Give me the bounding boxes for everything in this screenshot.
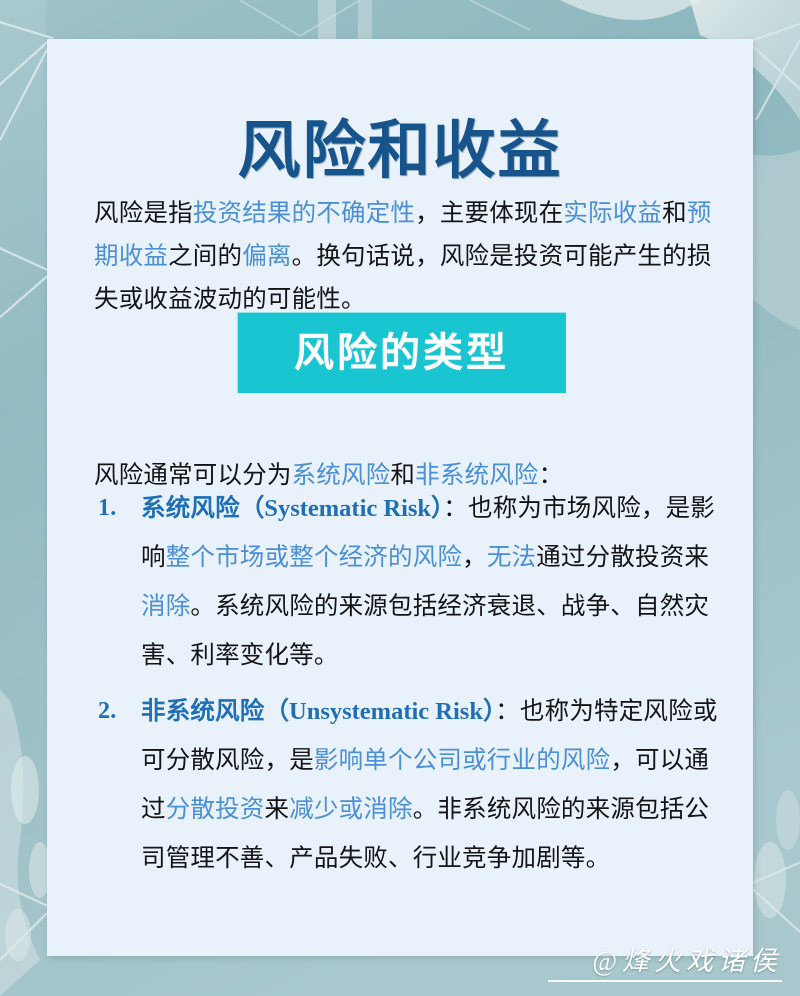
list-item-term-english: （Systematic Risk）	[240, 495, 443, 522]
body-text: 之间的	[168, 243, 242, 270]
list-item-term: 非系统风险	[141, 698, 265, 725]
highlighted-text: 无法	[487, 544, 536, 571]
list-item-term-english: （Unsystematic Risk）	[265, 698, 496, 725]
list-item-term: 系统风险	[141, 495, 240, 522]
highlighted-text: 减少或消除	[289, 796, 413, 823]
highlighted-text: 偏离	[242, 243, 291, 270]
highlighted-text: 投资结果的不确定性	[193, 200, 415, 227]
highlighted-text: 实际收益	[563, 200, 662, 227]
list-item-colon: ：	[495, 698, 520, 725]
body-text: 。系统风险的来源包括经济衰退、战争、自然灾害、利率变化等。	[141, 593, 709, 669]
watermark: @烽火戏诸侯	[548, 947, 782, 982]
body-text: 和	[662, 200, 687, 227]
page-title: 风险和收益	[47, 118, 753, 184]
list-item-colon: ：	[443, 495, 468, 522]
body-text: 通过分散投资来	[536, 544, 709, 571]
highlighted-text: 消除	[141, 593, 190, 620]
highlighted-text: 影响单个公司或行业的风险	[314, 747, 610, 774]
list-item: 2.非系统风险（Unsystematic Risk）：也称为特定风险或可分散风险…	[94, 687, 719, 883]
intro-paragraph: 风险是指投资结果的不确定性，主要体现在实际收益和预期收益之间的偏离。换句话说，风…	[94, 192, 714, 321]
content-card: 风险和收益 风险是指投资结果的不确定性，主要体现在实际收益和预期收益之间的偏离。…	[47, 39, 753, 956]
highlighted-text: 分散投资	[166, 796, 265, 823]
list-item: 1.系统风险（Systematic Risk）：也称为市场风险，是影响整个市场或…	[94, 484, 719, 680]
watermark-handle: @烽火戏诸侯	[548, 947, 782, 977]
body-text: 风险是指	[94, 200, 193, 227]
section-heading-label: 风险的类型	[294, 333, 509, 373]
body-text: 来	[265, 796, 290, 823]
watermark-underline	[548, 980, 782, 982]
section-heading-banner: 风险的类型	[237, 312, 566, 393]
risk-type-list: 1.系统风险（Systematic Risk）：也称为市场风险，是影响整个市场或…	[94, 484, 719, 890]
body-text: ，	[462, 544, 487, 571]
body-text: ，主要体现在	[415, 200, 563, 227]
list-item-number: 1.	[98, 484, 116, 533]
highlighted-text: 整个市场或整个经济的风险	[166, 544, 462, 571]
list-item-number: 2.	[98, 687, 116, 736]
